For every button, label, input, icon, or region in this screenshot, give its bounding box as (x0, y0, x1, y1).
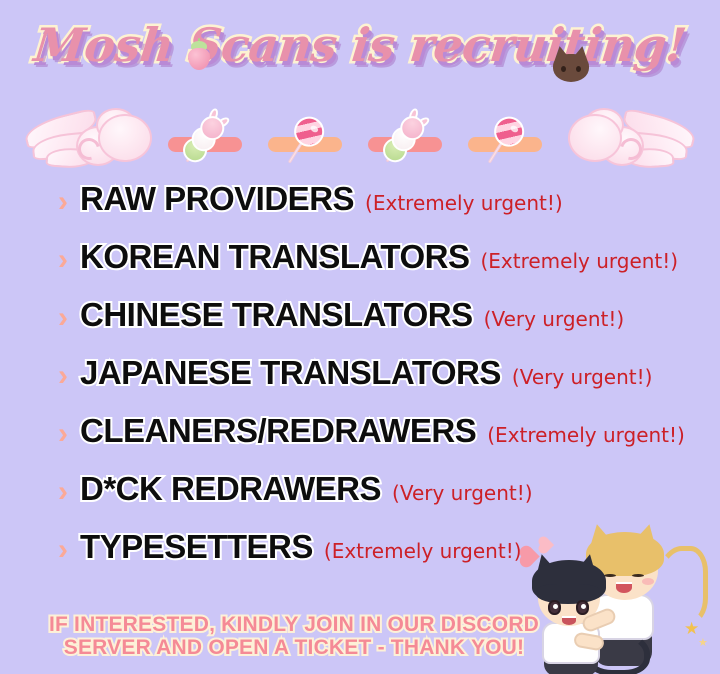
dango-skewer-icon (369, 107, 439, 178)
page-title: Mosh Scans is recruiting! (0, 18, 720, 72)
role-row-korean-translators: › KOREAN TRANSLATORS (Extremely urgent!) (0, 238, 720, 296)
candy-divider-2 (268, 128, 342, 158)
dango-skewer-icon (169, 107, 239, 178)
role-name: TYPESETTERS (80, 528, 313, 566)
candy-divider-1 (168, 128, 242, 158)
winged-cloud-icon-right (566, 108, 698, 174)
dark-hair (532, 560, 606, 602)
role-urgency: (Extremely urgent!) (480, 249, 678, 273)
winged-cloud-icon-left (22, 108, 154, 174)
candy-divider-3 (368, 128, 442, 158)
chevron-right-icon: › (58, 535, 68, 565)
role-urgency: (Very urgent!) (392, 481, 533, 505)
blonde-eye-left (604, 574, 616, 577)
title-area: Mosh Scans is recruiting! (0, 18, 720, 98)
footer-callout: IF INTERESTED, KINDLY JOIN IN OUR DISCOR… (0, 613, 720, 660)
chevron-right-icon: › (58, 419, 68, 449)
role-row-cleaners-redrawers: › CLEANERS/REDRAWERS (Extremely urgent!) (0, 412, 720, 470)
role-row-chinese-translators: › CHINESE TRANSLATORS (Very urgent!) (0, 296, 720, 354)
recruitment-poster: Mosh Scans is recruiting! (0, 0, 720, 674)
heart-icon (540, 538, 554, 552)
role-name: RAW PROVIDERS (80, 180, 354, 218)
role-urgency: (Very urgent!) (512, 365, 653, 389)
role-row-japanese-translators: › JAPANESE TRANSLATORS (Very urgent!) (0, 354, 720, 412)
footer-line-2: SERVER AND OPEN A TICKET - THANK YOU! (0, 636, 588, 660)
chevron-right-icon: › (58, 245, 68, 275)
role-name: JAPANESE TRANSLATORS (80, 354, 501, 392)
lollipop-icon (272, 108, 339, 176)
blush-right (642, 578, 654, 585)
role-name: CLEANERS/REDRAWERS (80, 412, 476, 450)
chevron-right-icon: › (58, 303, 68, 333)
blonde-eye-right (632, 574, 644, 577)
role-urgency: (Extremely urgent!) (324, 539, 522, 563)
role-row-raw-providers: › RAW PROVIDERS (Extremely urgent!) (0, 180, 720, 238)
role-name: CHINESE TRANSLATORS (80, 296, 473, 334)
chevron-right-icon: › (58, 477, 68, 507)
candy-divider-4 (468, 128, 542, 158)
role-list: › RAW PROVIDERS (Extremely urgent!) › KO… (0, 180, 720, 586)
role-name: D*CK REDRAWERS (80, 470, 381, 508)
role-row-dck-redrawers: › D*CK REDRAWERS (Very urgent!) (0, 470, 720, 528)
role-urgency: (Very urgent!) (484, 307, 625, 331)
cat-head-icon (550, 46, 592, 82)
role-name: KOREAN TRANSLATORS (80, 238, 469, 276)
strawberry-icon (186, 40, 212, 70)
role-urgency: (Extremely urgent!) (365, 191, 563, 215)
decorative-divider (0, 100, 720, 178)
chevron-right-icon: › (58, 187, 68, 217)
chevron-right-icon: › (58, 361, 68, 391)
lollipop-icon (472, 108, 539, 176)
role-urgency: (Extremely urgent!) (487, 423, 685, 447)
footer-line-1: IF INTERESTED, KINDLY JOIN IN OUR DISCOR… (0, 613, 588, 637)
blonde-mouth (616, 582, 632, 593)
